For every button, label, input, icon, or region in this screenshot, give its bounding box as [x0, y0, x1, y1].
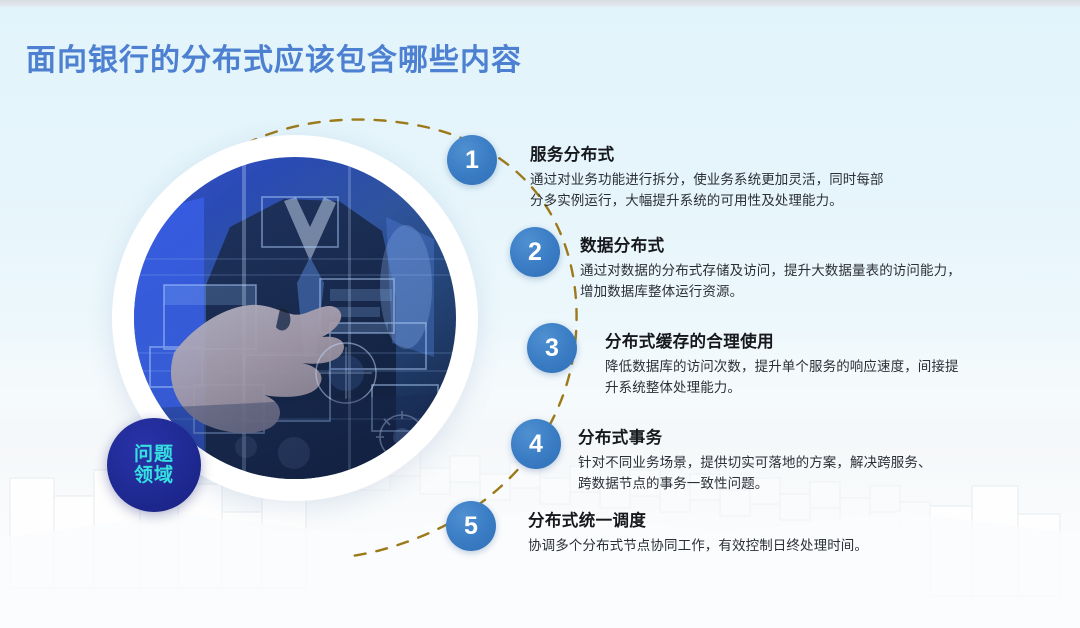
item-body-1: 通过对业务功能进行拆分，使业务系统更加灵活，同时每部 分多实例运行，大幅提升系统… [530, 170, 980, 211]
item-number-badge-5[interactable]: 5 [446, 501, 496, 551]
item-body-4: 针对不同业务场景，提供切实可落地的方案，解决跨服务、 跨数据节点的事务一致性问题… [578, 453, 1028, 494]
page-title: 面向银行的分布式应该包含哪些内容 [26, 35, 522, 79]
item-number-badge-1[interactable]: 1 [447, 135, 497, 185]
item-heading-5: 分布式统一调度 [528, 507, 978, 531]
problem-domain-line2: 领域 [134, 465, 174, 486]
item-body-5: 协调多个分布式节点协同工作，有效控制日终处理时间。 [528, 536, 978, 557]
item-heading-3: 分布式缓存的合理使用 [605, 328, 1045, 352]
item-heading-2: 数据分布式 [580, 232, 1040, 256]
item-number-badge-4[interactable]: 4 [511, 419, 561, 469]
item-body-2: 通过对数据的分布式存储及访问，提升大数据量表的访问能力， 增加数据库整体运行资源… [580, 261, 1040, 302]
item-body-3: 降低数据库的访问次数，提升单个服务的响应速度，间接提 升系统整体处理能力。 [605, 357, 1045, 398]
item-heading-1: 服务分布式 [530, 141, 980, 165]
item-text-block-5: 分布式统一调度 协调多个分布式节点协同工作，有效控制日终处理时间。 [528, 507, 978, 557]
item-number-badge-3[interactable]: 3 [527, 323, 577, 373]
item-number-badge-2[interactable]: 2 [510, 227, 560, 277]
problem-domain-badge: 问题 领域 [107, 418, 201, 512]
item-heading-4: 分布式事务 [578, 424, 1028, 448]
problem-domain-line1: 问题 [134, 444, 174, 465]
item-text-block-3: 分布式缓存的合理使用 降低数据库的访问次数，提升单个服务的响应速度，间接提 升系… [605, 328, 1045, 398]
slide-canvas: 面向银行的分布式应该包含哪些内容 [0, 0, 1080, 628]
top-strip [0, 0, 1080, 7]
item-text-block-4: 分布式事务 针对不同业务场景，提供切实可落地的方案，解决跨服务、 跨数据节点的事… [578, 424, 1028, 494]
item-text-block-1: 服务分布式 通过对业务功能进行拆分，使业务系统更加灵活，同时每部 分多实例运行，… [530, 141, 980, 211]
item-text-block-2: 数据分布式 通过对数据的分布式存储及访问，提升大数据量表的访问能力， 增加数据库… [580, 232, 1040, 302]
